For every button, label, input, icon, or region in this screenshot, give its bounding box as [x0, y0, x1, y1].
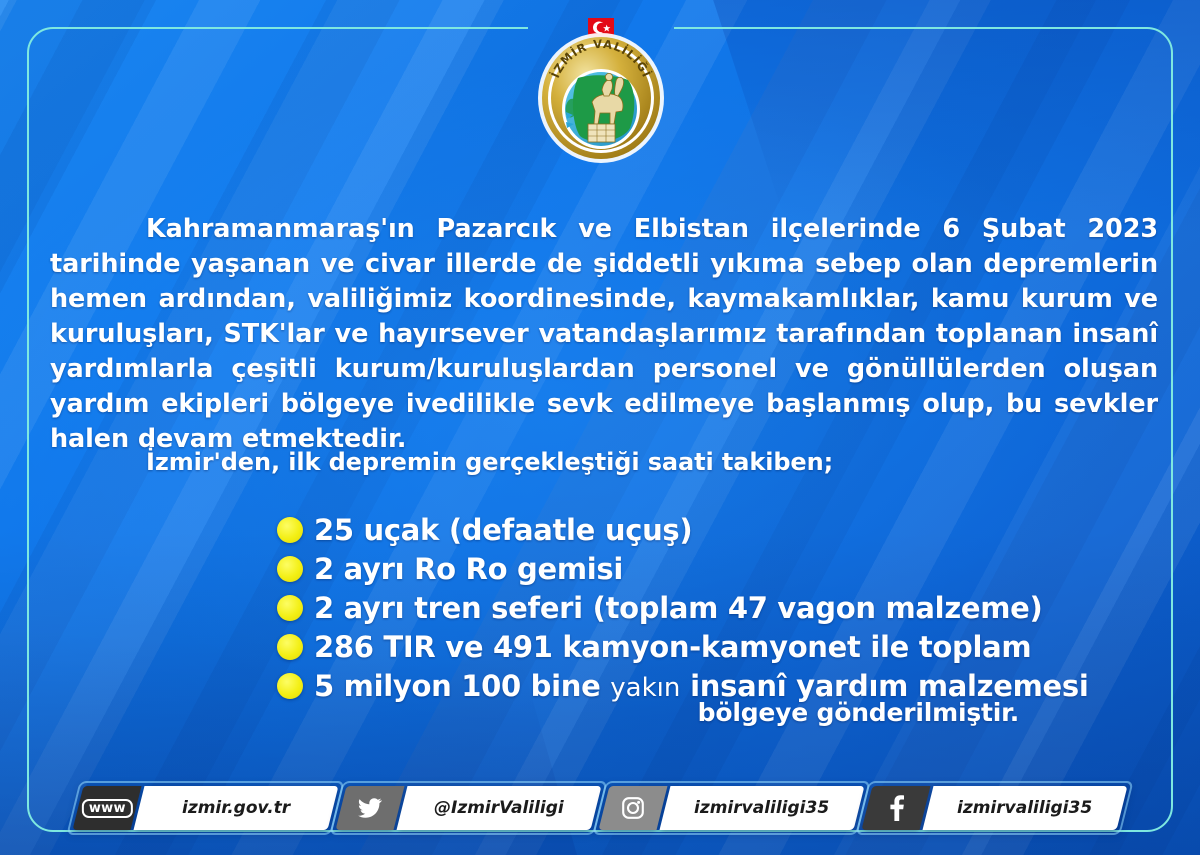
subheading: İzmir'den, ilk depremin gerçekleştiği sa… [146, 448, 833, 476]
list-item: 2 ayrı Ro Ro gemisi [277, 551, 1077, 587]
website-label: izmir.gov.tr [182, 798, 290, 818]
social-link-instagram[interactable]: izmirvaliligi35 [604, 786, 859, 830]
social-links-bar: www izmir.gov.tr @IzmirValiligi [0, 775, 1200, 841]
www-icon: www [73, 786, 142, 830]
list-item-label: 286 TIR ve 491 kamyon-kamyonet ile topla… [314, 630, 1031, 664]
izmir-valiligi-emblem: İZMİR VALİLİĞİ [530, 16, 672, 164]
website-label-box: izmir.gov.tr [134, 786, 339, 830]
bullet-dot-icon [277, 673, 303, 699]
social-link-facebook[interactable]: izmirvaliligi35 [867, 786, 1122, 830]
bullet-dot-icon [277, 595, 303, 621]
main-paragraph: Kahramanmaraş'ın Pazarcık ve Elbistan il… [50, 212, 1158, 457]
bullet-dot-icon [277, 556, 303, 582]
closing-line: bölgeye gönderilmiştir. [277, 698, 1019, 727]
paragraph-text: Kahramanmaraş'ın Pazarcık ve Elbistan il… [50, 214, 1158, 454]
list-item-label: 25 uçak (defaatle uçuş) [314, 513, 692, 547]
instagram-label-box: izmirvaliligi35 [660, 786, 865, 830]
social-link-website[interactable]: www izmir.gov.tr [78, 786, 333, 830]
twitter-label: @IzmirValiligi [434, 798, 564, 818]
poster-root: İZMİR VALİLİĞİ [0, 0, 1200, 855]
facebook-label: izmirvaliligi35 [957, 798, 1092, 818]
list-item-label: 2 ayrı Ro Ro gemisi [314, 552, 623, 586]
facebook-icon [862, 786, 931, 830]
list-item: 286 TIR ve 491 kamyon-kamyonet ile topla… [277, 629, 1077, 665]
bullet-dot-icon [277, 634, 303, 660]
bullet-list: 25 uçak (defaatle uçuş) 2 ayrı Ro Ro gem… [277, 512, 1077, 707]
twitter-label-box: @IzmirValiligi [397, 786, 602, 830]
facebook-label-box: izmirvaliligi35 [923, 786, 1128, 830]
list-item: 25 uçak (defaatle uçuş) [277, 512, 1077, 548]
twitter-icon [336, 786, 405, 830]
instagram-label: izmirvaliligi35 [694, 798, 829, 818]
instagram-icon [599, 786, 668, 830]
list-item: 2 ayrı tren seferi (toplam 47 vagon malz… [277, 590, 1077, 626]
list-item-label: 2 ayrı tren seferi (toplam 47 vagon malz… [314, 591, 1043, 625]
bullet-dot-icon [277, 517, 303, 543]
social-link-twitter[interactable]: @IzmirValiligi [341, 786, 596, 830]
